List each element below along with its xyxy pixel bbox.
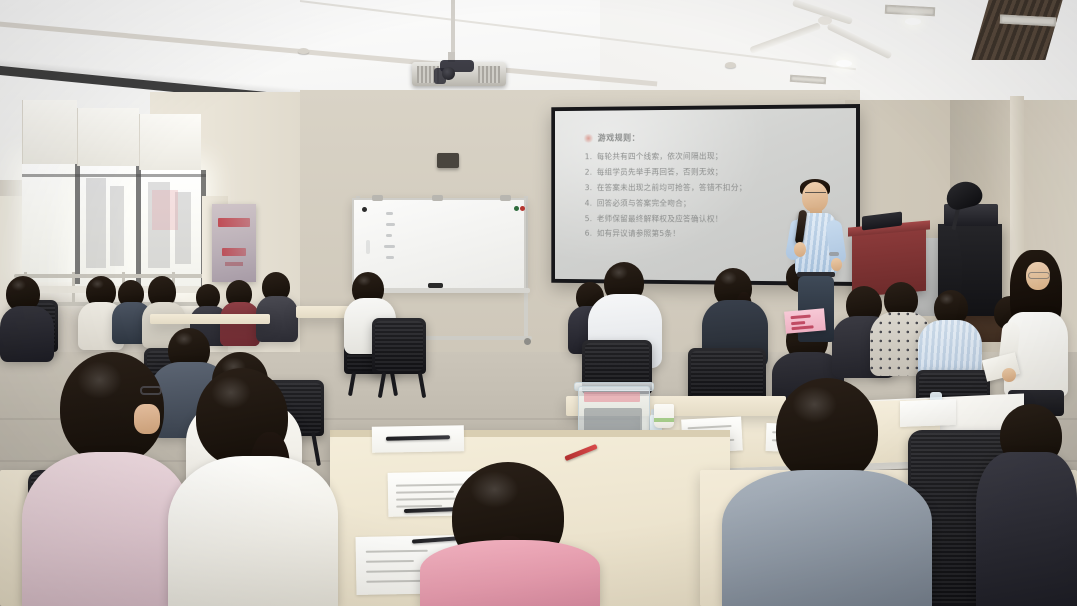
glasses-icon [805,192,826,197]
projector-vent [478,66,500,83]
exterior-reflection [152,190,178,230]
attendee-face [134,404,160,434]
whiteboard-writing [386,212,393,215]
attendee-front-grey-shirt [722,470,932,606]
slide-rule-item: 2.每组学员先举手再回答，否则无效； [585,168,825,177]
attendee-back-maroon-top [220,302,260,346]
slide-rule-text: 每组学员先举手再回答，否则无效； [597,167,723,176]
standing-attendee-right [1000,252,1076,412]
ceiling-fan-hub [818,16,832,25]
window-mullion [75,162,80,284]
slide-rule-number: 4. [585,200,597,208]
standing-attendee-hand [1002,368,1016,382]
window-blind[interactable] [139,114,201,170]
presenter-hand-left [794,242,806,257]
chair[interactable] [688,348,766,400]
attendee-window-row-1 [0,306,54,362]
attendee-right-dark [976,452,1077,606]
slide-rule-text: 老师保留最终解释权及应答确认权！ [597,214,723,223]
crate-contents [584,408,642,432]
projector-mount-pole [451,0,455,56]
projector-lens-icon [442,67,455,80]
exterior-building [110,186,124,266]
poster-footer [225,262,243,266]
exterior-building [86,178,106,268]
attendee-front-white-blouse-2 [168,456,338,606]
window-blind[interactable] [22,100,77,164]
slide-rule-text: 在答案未出现之前均可抢答，答错不扣分； [597,183,747,192]
attendee-head [776,378,878,484]
window-glass [22,162,77,282]
whiteboard-marker[interactable] [428,283,443,288]
window-mullion [136,166,141,288]
slide-rule-number: 1. [585,153,597,161]
classroom-photo: 游戏规则： 1.每轮共有四个线索，依次间隔出现； 2.每组学员先举手再回答，否则… [0,0,1077,606]
whiteboard-writing [386,256,394,259]
crate-contents-pink [584,392,640,402]
wall-poster [212,204,256,282]
wristwatch-icon [829,252,839,256]
wall-speaker [437,153,459,168]
attendee-front-pink-shirt [22,452,190,606]
whiteboard-writing [384,245,395,248]
slide-rule-number: 6. [585,230,597,238]
window-blind[interactable] [77,108,139,166]
whiteboard-caster [524,338,531,345]
whiteboard-magnet[interactable] [514,206,519,211]
pink-answer-card[interactable] [784,308,826,333]
presenter-hand-right [831,258,842,271]
slide-title-bullet-icon [583,134,594,143]
handout-paper[interactable] [900,399,956,427]
glasses-icon [140,386,162,395]
slide-rule-item: 1.每轮共有四个线索，依次间隔出现； [585,152,825,161]
slide-rule-text: 每轮共有四个线索，依次间隔出现； [597,152,723,161]
slide-rule-number: 5. [585,215,597,223]
whiteboard-writing [386,223,395,226]
attendee-front-pink-top [420,540,600,606]
slide-rule-number: 3. [585,184,597,192]
whiteboard-writing [366,240,370,254]
whiteboard-magnet[interactable] [520,206,525,211]
slide-rule-text: 如有异议请参照第5条！ [597,229,680,238]
downlight [905,18,921,25]
slide-title: 游戏规则： [598,132,640,144]
chair[interactable] [372,318,426,374]
training-table [150,314,270,324]
slide-rule-text: 回答必须与答案完全吻合； [597,199,691,208]
whiteboard-magnet[interactable] [362,207,367,212]
window-transom [22,174,206,177]
slide-rule-number: 2. [585,169,597,177]
downlight [836,60,852,67]
whiteboard-writing [386,234,392,237]
poster-subline [222,248,246,256]
sprinkler-head-icon [725,62,736,68]
glasses-icon [1028,272,1050,279]
sprinkler-head-icon [298,48,309,54]
paper-cup[interactable] [654,404,674,428]
ceiling-projector [412,52,506,86]
window-sill [14,286,218,293]
poster-headline [218,218,250,227]
